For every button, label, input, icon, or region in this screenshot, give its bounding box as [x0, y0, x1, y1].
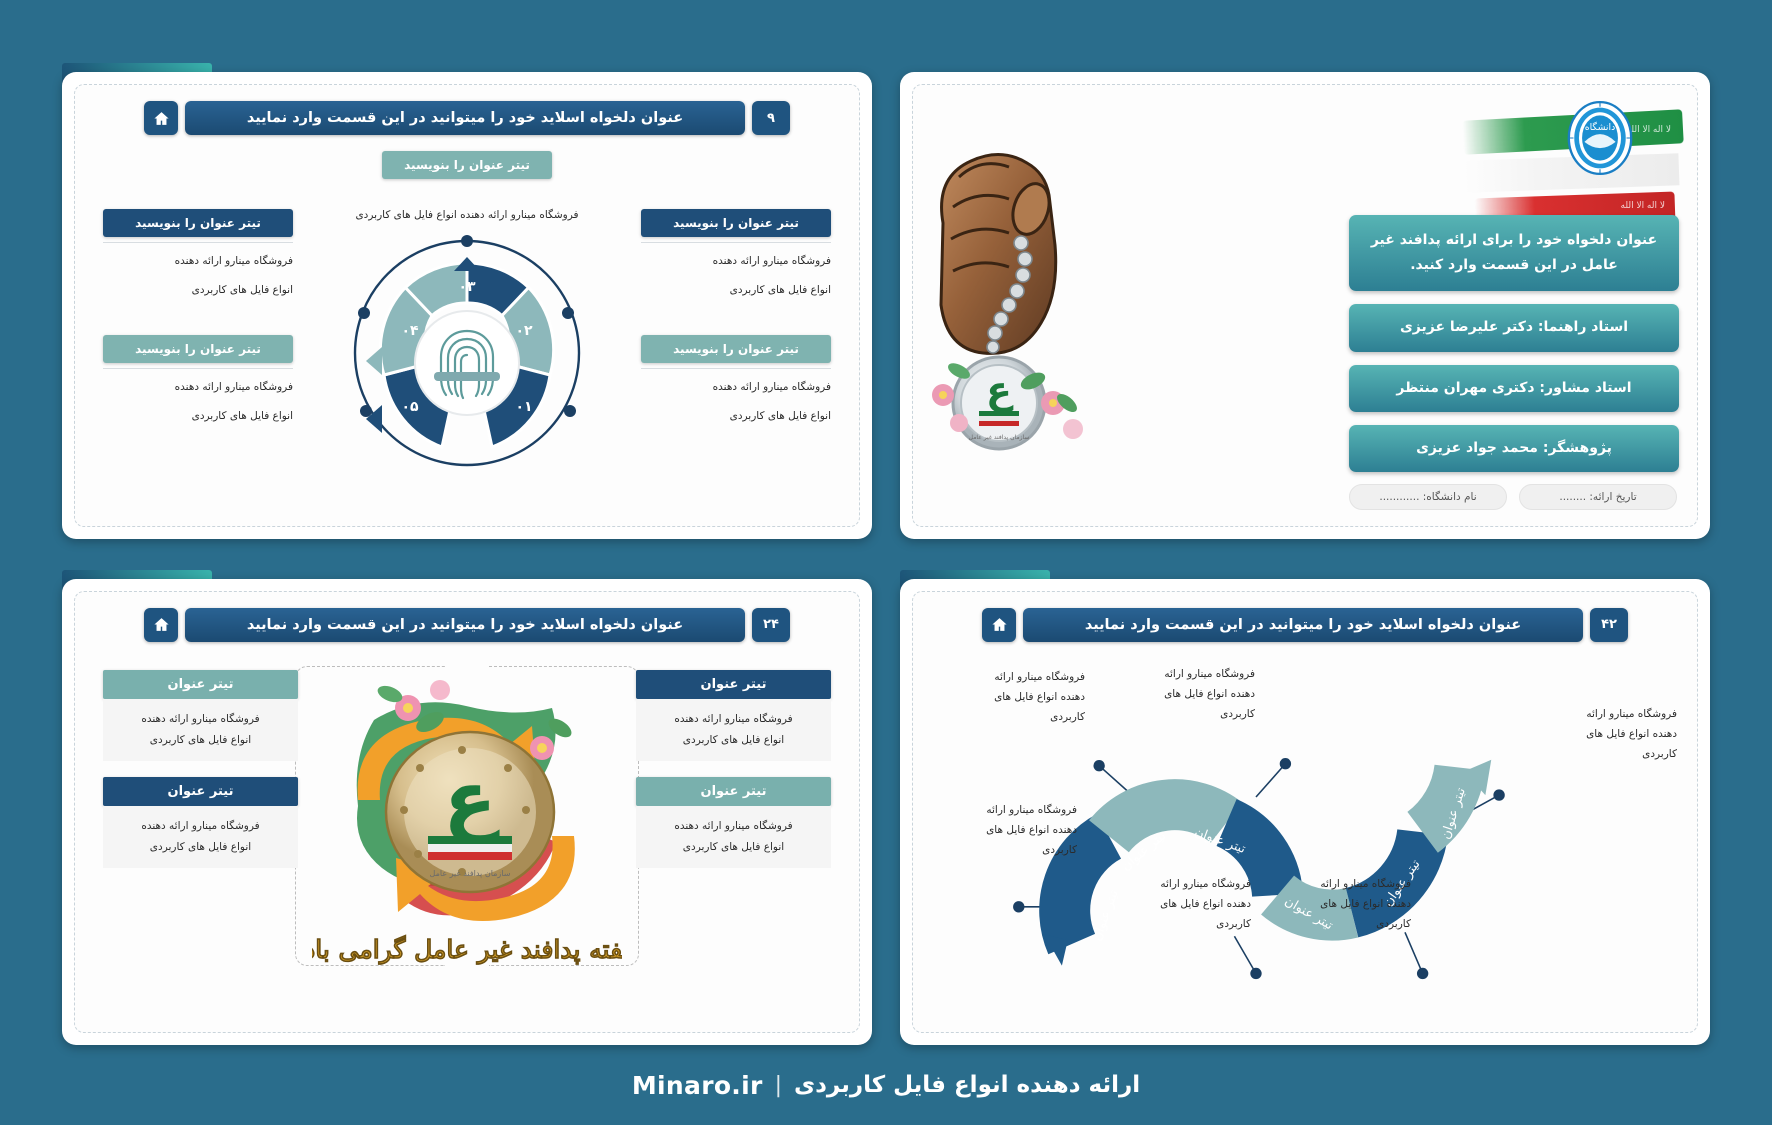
callout-right-upper-title[interactable]: تیتر عنوان را بنویسید — [641, 209, 831, 237]
slide-4-title[interactable]: عنوان دلخواه اسلاید خود را میتوانید در ا… — [185, 608, 745, 642]
divider — [641, 368, 831, 369]
card-body: فروشگاه مینارو ارائه دهنده انواع فایل ها… — [636, 699, 831, 761]
slide-4[interactable]: ۲۴ عنوان دلخواه اسلاید خود را میتوانید د… — [62, 579, 872, 1046]
slide-1-meta-inputs: تاریخ ارائه: ........ نام دانشگاه: .....… — [1349, 484, 1677, 510]
note-right-line2: دهنده انواع فایل های — [1527, 724, 1677, 744]
card-body-line2: انواع فایل های کاربردی — [111, 837, 290, 858]
slide-3-header: ۴۲ عنوان دلخواه اسلاید خود را میتوانید د… — [935, 608, 1675, 642]
card-column-right: تیتر عنوان فروشگاه مینارو ارائه دهنده ان… — [636, 670, 831, 868]
segment-number-1: ۰۱ — [515, 399, 532, 415]
callout-top-title[interactable]: تیتر عنوان را بنویسید — [382, 151, 552, 179]
advisor-field[interactable]: استاد مشاور: دکتری مهران منتظر — [1349, 365, 1679, 412]
note-right-line3: کاربردی — [1527, 744, 1677, 764]
ring-node-right-upper — [562, 307, 574, 319]
slide-4-page-number: ۲۴ — [752, 608, 790, 642]
callout-right-upper-line2: انواع فایل های کاربردی — [641, 281, 831, 301]
note-bottom-right: فروشگاه مینارو ارائه دهنده انواع فایل ها… — [1261, 874, 1411, 935]
callout-right-lower-title[interactable]: تیتر عنوان را بنویسید — [641, 335, 831, 363]
card-body: فروشگاه مینارو ارائه دهنده انواع فایل ها… — [103, 699, 298, 761]
slide-1-inner: لا اله الا الله لا اله الا الله دانشگاه — [912, 84, 1698, 527]
callout-right-lower: تیتر عنوان را بنویسید فروشگاه مینارو ارا… — [641, 335, 831, 427]
note-top-left-line1: فروشگاه مینارو ارائه — [935, 667, 1085, 687]
svg-text:سازمان پدافند غیر عامل: سازمان پدافند غیر عامل — [430, 869, 511, 878]
ring-node-right-lower — [564, 405, 576, 417]
home-icon[interactable] — [144, 608, 178, 642]
divider — [103, 368, 293, 369]
callout-left-upper: تیتر عنوان را بنویسید فروشگاه مینارو ارا… — [103, 209, 293, 301]
slide-1-field-list: عنوان دلخواه خود را برای ارائه پدافند غی… — [1349, 215, 1679, 472]
card-body-line1: فروشگاه مینارو ارائه دهنده — [644, 709, 823, 730]
card-body-line1: فروشگاه مینارو ارائه دهنده — [644, 816, 823, 837]
callout-right-upper: تیتر عنوان را بنویسید فروشگاه مینارو ارا… — [641, 209, 831, 301]
note-bottom-left: فروشگاه مینارو ارائه دهنده انواع فایل ها… — [1101, 874, 1251, 935]
slide-1-wrapper: لا اله الا الله لا اله الا الله دانشگاه — [900, 72, 1710, 539]
note-top-center-line2: دهنده انواع فایل های — [1105, 684, 1255, 704]
note-top-left: فروشگاه مینارو ارائه دهنده انواع فایل ها… — [935, 667, 1085, 728]
supervisor-field[interactable]: استاد راهنما: دکتر علیرضا عزیزی — [1349, 304, 1679, 351]
segment-number-3: ۰۳ — [458, 279, 476, 295]
callout-left-upper-line2: انواع فایل های کاربردی — [103, 281, 293, 301]
callout-top-body-wrap: فروشگاه مینارو ارائه دهنده انواع فایل ها… — [317, 197, 617, 226]
info-card: تیتر عنوان فروشگاه مینارو ارائه دهنده ان… — [103, 777, 298, 868]
passive-defense-week-emblem: ع سازمان پدافند غیر عامل — [312, 650, 622, 980]
divider — [103, 242, 293, 243]
callout-left-lower-line2: انواع فایل های کاربردی — [103, 407, 293, 427]
callout-top: تیتر عنوان را بنویسید — [382, 151, 552, 179]
presentation-date-input[interactable]: تاریخ ارائه: ........ — [1519, 484, 1677, 510]
note-bottom-right-line1: فروشگاه مینارو ارائه — [1261, 874, 1411, 894]
svg-text:دانشگاه: دانشگاه — [1585, 121, 1616, 133]
segment-number-2: ۰۲ — [515, 323, 533, 339]
slide-3[interactable]: ۴۲ عنوان دلخواه اسلاید خود را میتوانید د… — [900, 579, 1710, 1046]
university-name-input[interactable]: نام دانشگاه: ............ — [1349, 484, 1507, 510]
segment-number-4: ۰۴ — [401, 323, 419, 339]
footer-site-name: Minaro.ir — [632, 1071, 763, 1100]
note-top-center-line3: کاربردی — [1105, 704, 1255, 724]
slide-4-wrapper: ۲۴ عنوان دلخواه اسلاید خود را میتوانید د… — [62, 579, 872, 1046]
callout-left-upper-title[interactable]: تیتر عنوان را بنویسید — [103, 209, 293, 237]
svg-text:ع: ع — [443, 755, 500, 845]
university-emblem-icon: دانشگاه — [1561, 99, 1639, 177]
card-body-line1: فروشگاه مینارو ارائه دهنده — [111, 709, 290, 730]
callout-right-lower-line2: انواع فایل های کاربردی — [641, 407, 831, 427]
circular-process-diagram: ۰۳ ۰۲ ۰۱ ۰۵ ۰۴ — [342, 235, 592, 485]
info-card: تیتر عنوان فروشگاه مینارو ارائه دهنده ان… — [103, 670, 298, 761]
slide-3-title[interactable]: عنوان دلخواه اسلاید خود را میتوانید در ا… — [1023, 608, 1583, 642]
info-card: تیتر عنوان فروشگاه مینارو ارائه دهنده ان… — [636, 670, 831, 761]
callout-right-lower-line1: فروشگاه مینارو ارائه دهنده — [641, 378, 831, 398]
card-title[interactable]: تیتر عنوان — [636, 670, 831, 699]
slide-2-header: ۹ عنوان دلخواه اسلاید خود را میتوانید در… — [97, 101, 837, 135]
home-icon[interactable] — [144, 101, 178, 135]
callout-left-upper-line1: فروشگاه مینارو ارائه دهنده — [103, 252, 293, 272]
note-bottom-right-line3: کاربردی — [1261, 914, 1411, 934]
card-body: فروشگاه مینارو ارائه دهنده انواع فایل ها… — [636, 806, 831, 868]
slide-4-header: ۲۴ عنوان دلخواه اسلاید خود را میتوانید د… — [97, 608, 837, 642]
card-body-line1: فروشگاه مینارو ارائه دهنده — [111, 816, 290, 837]
slide-1[interactable]: لا اله الا الله لا اله الا الله دانشگاه — [900, 72, 1710, 539]
card-body-line2: انواع فایل های کاربردی — [644, 730, 823, 751]
note-right-line1: فروشگاه مینارو ارائه — [1527, 704, 1677, 724]
researcher-field[interactable]: پژوهشگر: محمد جواد عزیزی — [1349, 425, 1679, 472]
note-top-left-line3: کاربردی — [935, 707, 1085, 727]
callout-left-lower: تیتر عنوان را بنویسید فروشگاه مینارو ارا… — [103, 335, 293, 427]
slide-3-wrapper: ۴۲ عنوان دلخواه اسلاید خود را میتوانید د… — [900, 579, 1710, 1046]
note-left-line3: کاربردی — [927, 840, 1077, 860]
card-title[interactable]: تیتر عنوان — [103, 670, 298, 699]
note-right: فروشگاه مینارو ارائه دهنده انواع فایل ها… — [1527, 704, 1677, 765]
info-card: تیتر عنوان فروشگاه مینارو ارائه دهنده ان… — [636, 777, 831, 868]
slide-2-inner: ۹ عنوان دلخواه اسلاید خود را میتوانید در… — [74, 84, 860, 527]
card-column-left: تیتر عنوان فروشگاه مینارو ارائه دهنده ان… — [103, 670, 298, 868]
note-top-center: فروشگاه مینارو ارائه دهنده انواع فایل ها… — [1105, 664, 1255, 725]
fist-with-medal-illustration: ع سازمان پدافند غیر عامل — [925, 103, 1135, 453]
slide-2[interactable]: ۹ عنوان دلخواه اسلاید خود را میتوانید در… — [62, 72, 872, 539]
svg-text:ع: ع — [986, 368, 1014, 412]
note-bottom-left-line2: دهنده انواع فایل های — [1101, 894, 1251, 914]
note-bottom-right-line2: دهنده انواع فایل های — [1261, 894, 1411, 914]
footer-separator: | — [775, 1073, 782, 1098]
slide-2-page-number: ۹ — [752, 101, 790, 135]
note-bottom-left-line1: فروشگاه مینارو ارائه — [1101, 874, 1251, 894]
note-top-left-line2: دهنده انواع فایل های — [935, 687, 1085, 707]
ring-node-left-lower — [360, 405, 372, 417]
divider — [641, 242, 831, 243]
svg-text:سازمان پدافند غیر عامل: سازمان پدافند غیر عامل — [969, 434, 1030, 441]
card-body: فروشگاه مینارو ارائه دهنده انواع فایل ها… — [103, 806, 298, 868]
card-title[interactable]: تیتر عنوان — [103, 777, 298, 806]
emblem-caption: هفته پدافند غیر عامل گرامی باد — [312, 934, 622, 965]
callout-right-upper-line1: فروشگاه مینارو ارائه دهنده — [641, 252, 831, 272]
presentation-title-field[interactable]: عنوان دلخواه خود را برای ارائه پدافند غی… — [1349, 215, 1679, 291]
note-bottom-left-line3: کاربردی — [1101, 914, 1251, 934]
slide-2-title[interactable]: عنوان دلخواه اسلاید خود را میتوانید در ا… — [185, 101, 745, 135]
slide-2-wrapper: ۹ عنوان دلخواه اسلاید خود را میتوانید در… — [62, 72, 872, 539]
ring-node-top — [461, 235, 473, 247]
callout-left-lower-line1: فروشگاه مینارو ارائه دهنده — [103, 378, 293, 398]
segment-number-5: ۰۵ — [401, 399, 419, 415]
card-body-line2: انواع فایل های کاربردی — [111, 730, 290, 751]
slide-3-page-number: ۴۲ — [1590, 608, 1628, 642]
page-footer: ارائه دهنده انواع فایل کاربردی | Minaro.… — [0, 1045, 1772, 1125]
note-left: فروشگاه مینارو ارائه دهنده انواع فایل ها… — [927, 800, 1077, 861]
slide-4-inner: ۲۴ عنوان دلخواه اسلاید خود را میتوانید د… — [74, 591, 860, 1034]
card-title[interactable]: تیتر عنوان — [636, 777, 831, 806]
home-icon[interactable] — [982, 608, 1016, 642]
footer-persian-text: ارائه دهنده انواع فایل کاربردی — [794, 1072, 1140, 1098]
fingerprint-scan-bar — [434, 372, 500, 381]
ring-node-left-upper — [358, 307, 370, 319]
callout-left-lower-title[interactable]: تیتر عنوان را بنویسید — [103, 335, 293, 363]
note-left-line2: دهنده انواع فایل های — [927, 820, 1077, 840]
card-body-line2: انواع فایل های کاربردی — [644, 837, 823, 858]
slide-deck: لا اله الا الله لا اله الا الله دانشگاه — [0, 0, 1772, 1045]
callout-top-body: فروشگاه مینارو ارائه دهنده انواع فایل ها… — [317, 206, 617, 226]
note-left-line1: فروشگاه مینارو ارائه — [927, 800, 1077, 820]
slide-3-inner: ۴۲ عنوان دلخواه اسلاید خود را میتوانید د… — [912, 591, 1698, 1034]
kufic-text-red: لا اله الا الله — [1621, 201, 1665, 211]
note-top-center-line1: فروشگاه مینارو ارائه — [1105, 664, 1255, 684]
